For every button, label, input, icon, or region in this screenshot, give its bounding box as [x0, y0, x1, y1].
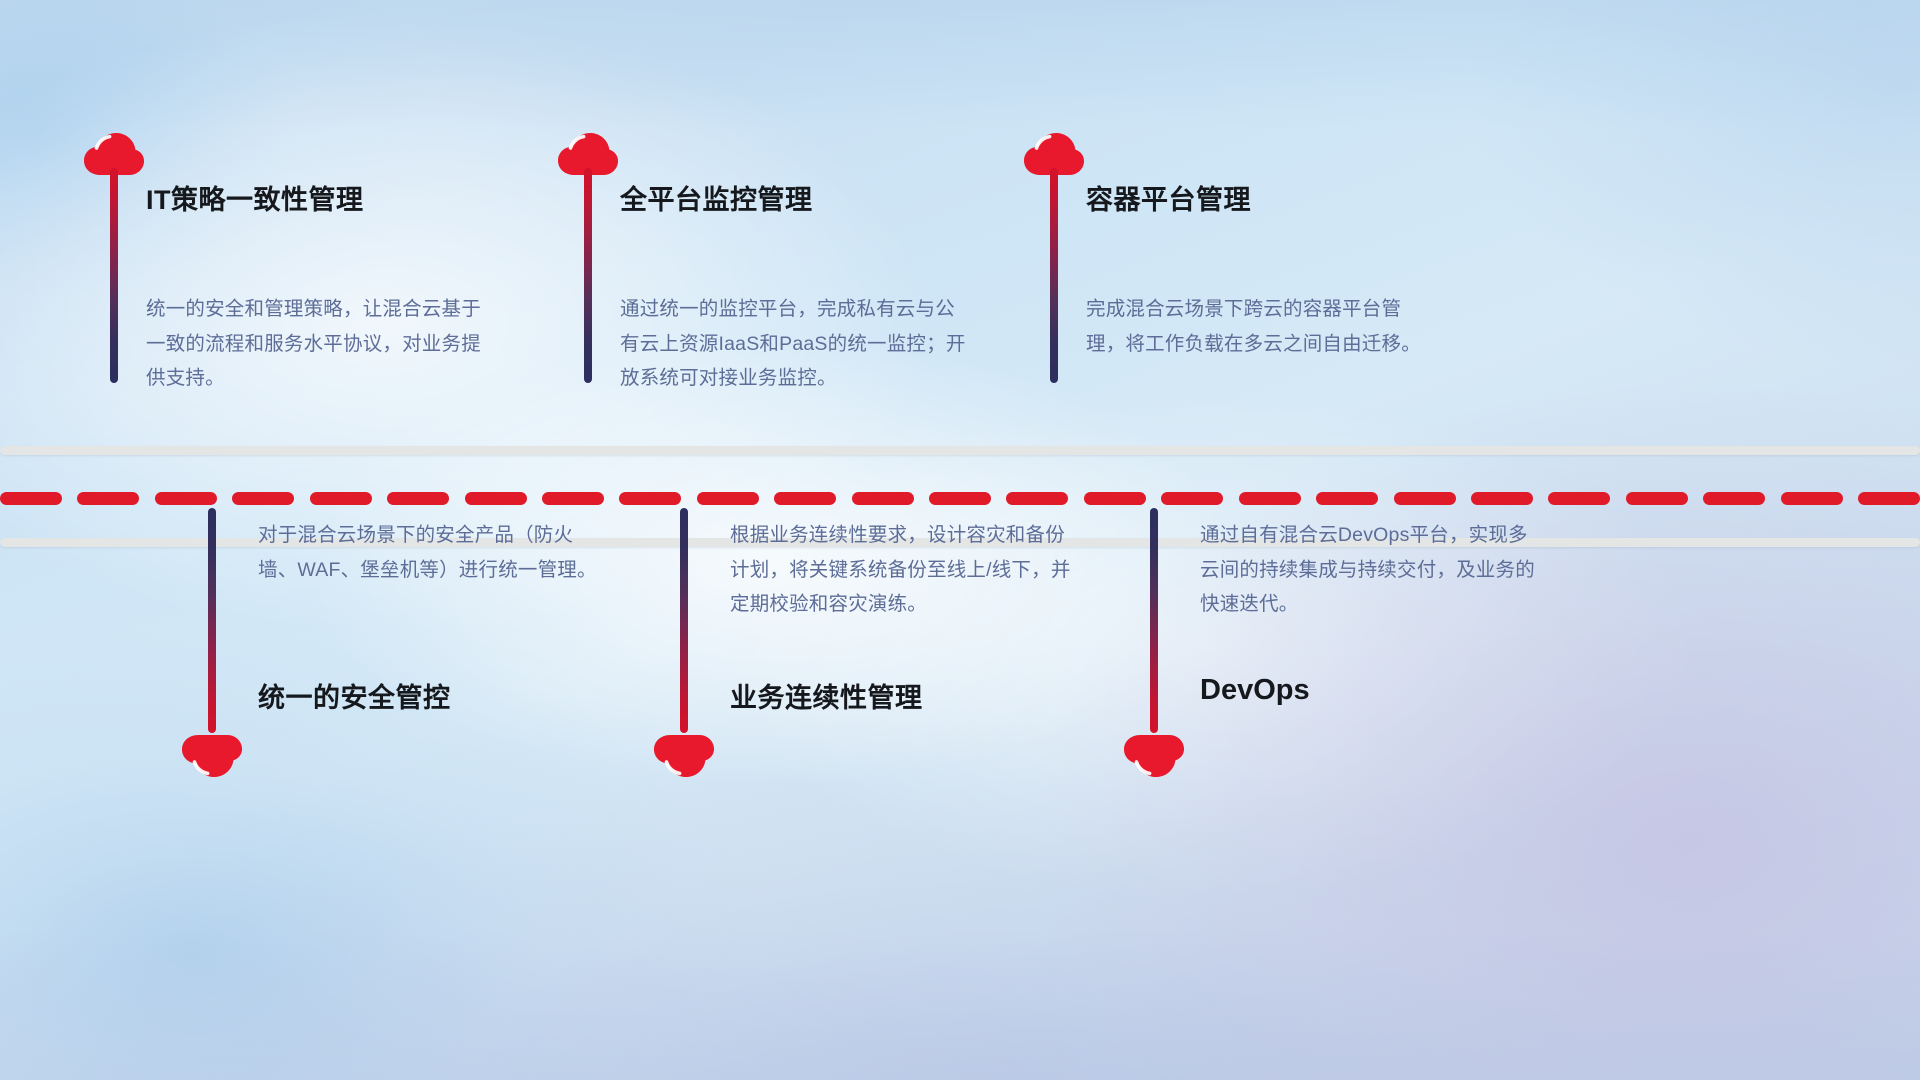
connector-bar — [1050, 168, 1058, 383]
divider-dash — [77, 492, 139, 505]
divider-dash — [774, 492, 836, 505]
divider-line-top — [0, 446, 1920, 455]
divider-dash — [852, 492, 914, 505]
divider-dash — [1316, 492, 1378, 505]
divider-dash — [232, 492, 294, 505]
column-description: 对于混合云场景下的安全产品（防火墙、WAF、堡垒机等）进行统一管理。 — [258, 518, 610, 587]
cloud-icon — [1122, 733, 1186, 779]
divider-dash — [1161, 492, 1223, 505]
divider-dash — [0, 492, 62, 505]
divider-dash — [697, 492, 759, 505]
column-title: DevOps — [1200, 674, 1310, 707]
column-title: 全平台监控管理 — [620, 178, 813, 217]
divider-dash — [1858, 492, 1920, 505]
divider-dash — [1394, 492, 1456, 505]
divider-dash — [1548, 492, 1610, 505]
divider-dash — [1703, 492, 1765, 505]
divider-dash — [155, 492, 217, 505]
connector-bar — [584, 168, 592, 383]
connector-bar — [680, 508, 688, 733]
divider-dash — [542, 492, 604, 505]
divider-dash — [1781, 492, 1843, 505]
divider-dash — [619, 492, 681, 505]
divider-dash — [1006, 492, 1068, 505]
divider-dash — [465, 492, 527, 505]
divider-dashed-line — [0, 492, 1920, 505]
column-title: IT策略一致性管理 — [146, 178, 364, 217]
connector-bar — [1150, 508, 1158, 733]
column-title: 统一的安全管控 — [258, 676, 451, 715]
column-title: 业务连续性管理 — [730, 676, 923, 715]
column-description: 通过自有混合云DevOps平台，实现多云间的持续集成与持续交付，及业务的快速迭代… — [1200, 518, 1540, 622]
cloud-icon — [180, 733, 244, 779]
column-description: 通过统一的监控平台，完成私有云与公有云上资源IaaS和PaaS的统一监控；开放系… — [620, 292, 972, 396]
column-description: 完成混合云场景下跨云的容器平台管理，将工作负载在多云之间自由迁移。 — [1086, 292, 1436, 361]
cloud-icon — [652, 733, 716, 779]
column-title: 容器平台管理 — [1086, 178, 1251, 217]
divider-dash — [310, 492, 372, 505]
divider-dash — [1084, 492, 1146, 505]
divider-dash — [387, 492, 449, 505]
divider-dash — [1471, 492, 1533, 505]
divider-dash — [1626, 492, 1688, 505]
divider-dash — [1239, 492, 1301, 505]
column-description: 根据业务连续性要求，设计容灾和备份计划，将关键系统备份至线上/线下，并定期校验和… — [730, 518, 1082, 622]
connector-bar — [110, 168, 118, 383]
divider-dash — [929, 492, 991, 505]
connector-bar — [208, 508, 216, 733]
column-description: 统一的安全和管理策略，让混合云基于一致的流程和服务水平协议，对业务提供支持。 — [146, 292, 494, 396]
